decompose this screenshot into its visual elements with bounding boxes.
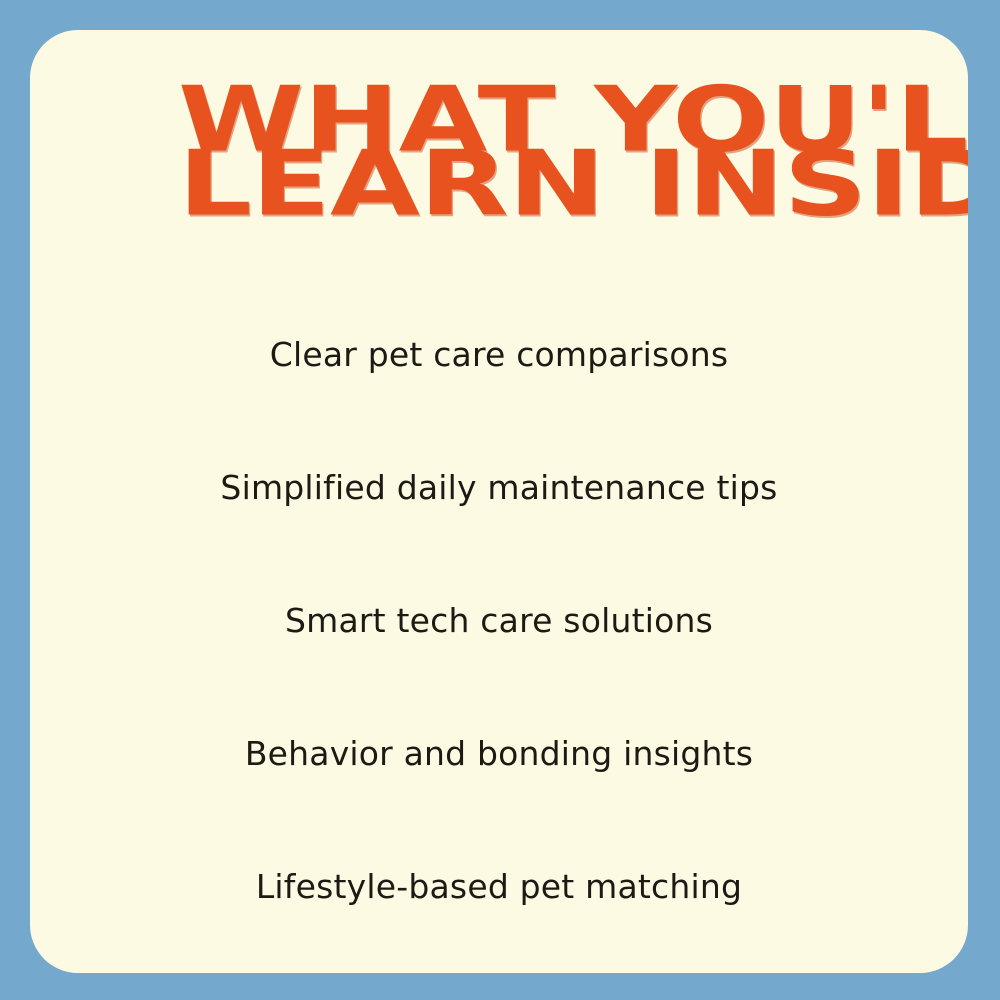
list-item: Smart tech care solutions [30, 554, 968, 687]
page-title-line-2: LEARN INSIDE [178, 148, 968, 220]
list-item: Simplified daily maintenance tips [30, 421, 968, 554]
slide-frame: WHAT YOU'LL LEARN INSIDE Clear pet care … [0, 0, 1000, 1000]
page-title: WHAT YOU'LL LEARN INSIDE [178, 84, 878, 219]
learn-list: Clear pet care comparisons Simplified da… [30, 288, 968, 953]
list-item: Clear pet care comparisons [30, 288, 968, 421]
content-card: WHAT YOU'LL LEARN INSIDE Clear pet care … [30, 30, 968, 973]
list-item: Behavior and bonding insights [30, 687, 968, 820]
list-item: Lifestyle-based pet matching [30, 820, 968, 953]
